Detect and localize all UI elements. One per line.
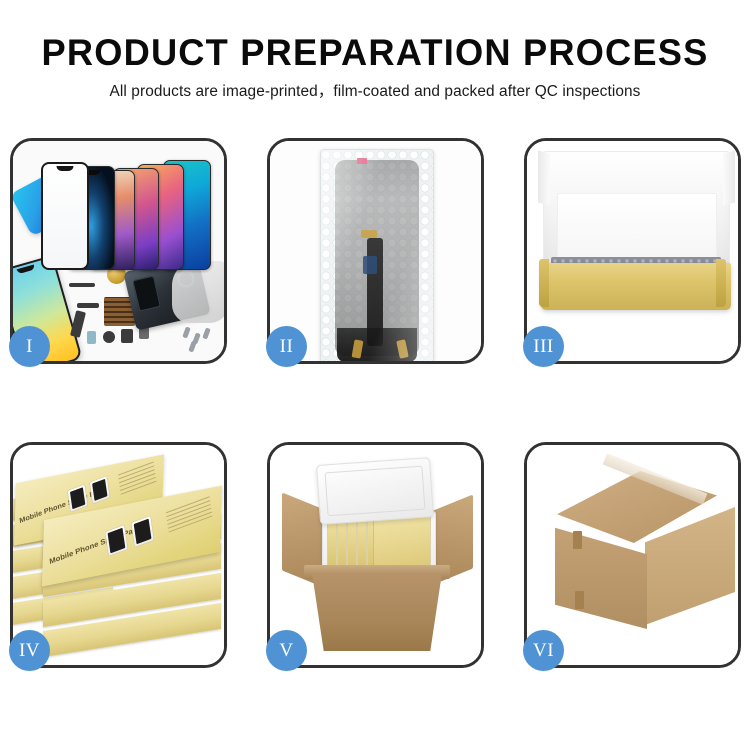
box-spec-lines (118, 462, 157, 498)
taptic-engine-icon (103, 331, 115, 343)
box-phone-image-icon (131, 516, 153, 547)
box-phone-image-icon (105, 525, 127, 556)
step-badge-4: IV (9, 630, 50, 671)
page-title: PRODUCT PREPARATION PROCESS (8, 0, 743, 74)
box-phone-image-icon (68, 485, 88, 512)
box-phone-image-icon (90, 476, 110, 503)
sim-tray-icon (87, 331, 96, 344)
tape-tab-icon (573, 531, 582, 549)
step-badge-1: I (9, 326, 50, 367)
step-badge-5: V (266, 630, 307, 671)
glass-screen-protector-icon (41, 162, 89, 270)
panel-4-image: Mobile Phone Spare Parts Mobile Phone Sp… (13, 445, 224, 665)
battery-connector-icon (121, 329, 133, 343)
plastic-sheen-overlay (321, 150, 433, 361)
yellow-box-edge-icon (338, 517, 346, 567)
speaker-mesh-icon (69, 283, 95, 287)
yellow-box-edge-icon (328, 517, 336, 567)
step-badge-3: III (523, 326, 564, 367)
bubble-wrap-bag-icon (320, 149, 434, 361)
screws-group-icon (184, 327, 218, 353)
stacked-boxes-group: Mobile Phone Spare Parts Mobile Phone Sp… (13, 469, 224, 654)
phone-screen-fan (63, 155, 224, 270)
yellow-box-edge-icon (358, 517, 366, 567)
yellow-boxes-block-icon (374, 515, 430, 567)
yellow-box-edge-icon (348, 517, 356, 567)
page-header: PRODUCT PREPARATION PROCESS All products… (0, 0, 750, 130)
yellow-tray-base-icon (541, 263, 731, 310)
tray-left-lip (539, 259, 549, 307)
foam-lid-icon (316, 457, 434, 525)
process-step-panel-1[interactable]: I (10, 138, 227, 364)
process-step-panel-5[interactable]: V (267, 442, 484, 668)
process-step-panel-2[interactable]: II (267, 138, 484, 364)
flex-cable-icon (70, 310, 86, 338)
process-step-panel-6[interactable]: VI (524, 442, 741, 668)
page-subtitle: All products are image-printed，film-coat… (0, 74, 750, 101)
box-spec-lines (166, 496, 213, 535)
antenna-strip-icon (77, 303, 99, 308)
box-label-text: Mobile Phone Spare Parts (49, 523, 143, 566)
process-step-grid: I II (10, 138, 742, 668)
panel-3-image (527, 141, 738, 361)
step-badge-2: II (266, 326, 307, 367)
panel-5-image (270, 445, 481, 665)
carton-body-icon (312, 573, 442, 651)
process-step-panel-3[interactable]: III (524, 138, 741, 364)
panel-6-image (527, 445, 738, 665)
technician-hand-icon (172, 261, 224, 323)
tape-tab-icon (575, 591, 584, 609)
process-step-panel-4[interactable]: Mobile Phone Spare Parts Mobile Phone Sp… (10, 442, 227, 668)
step-badge-6: VI (523, 630, 564, 671)
panel-2-image (270, 141, 481, 361)
tray-right-lip (716, 259, 726, 307)
panel-1-image (13, 141, 224, 361)
